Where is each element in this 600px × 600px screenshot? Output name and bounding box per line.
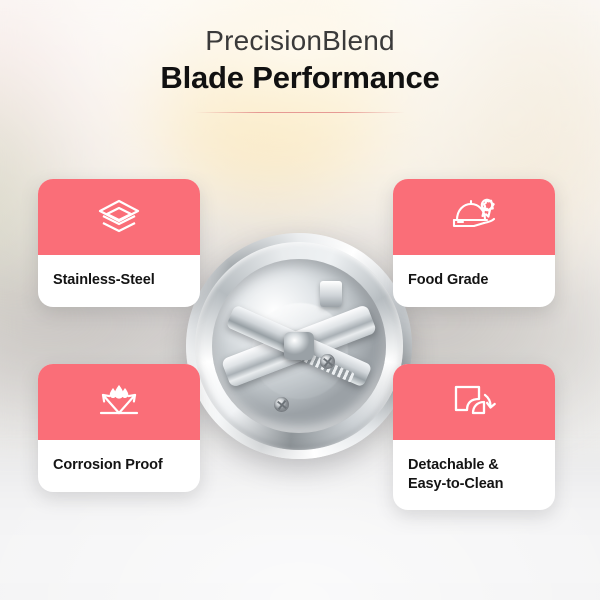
title-divider: [195, 112, 405, 113]
feature-card-corrosion-proof[interactable]: Corrosion Proof: [38, 364, 200, 492]
feature-title-line-2: Easy-to-Clean: [408, 475, 540, 494]
feature-title-line-1: Detachable &: [408, 456, 540, 475]
feature-icon-header: [38, 364, 200, 440]
feature-card-stainless-steel[interactable]: Stainless-Steel: [38, 179, 200, 307]
feature-card-body: Food Grade: [393, 255, 555, 307]
food-cloche-badge-icon: [450, 196, 498, 238]
feature-icon-header: [38, 179, 200, 255]
feature-card-detachable-easy-to-clean[interactable]: Detachable & Easy-to-Clean: [393, 364, 555, 510]
water-repellent-droplets-icon: [95, 382, 143, 422]
jar-tab-top: [320, 281, 342, 307]
layers-stack-icon: [96, 197, 142, 237]
feature-icon-header: [393, 179, 555, 255]
feature-card-body: Stainless-Steel: [38, 255, 200, 307]
feature-title: Stainless-Steel: [53, 271, 185, 290]
page-title: Blade Performance: [0, 59, 600, 96]
detachable-corner-arrow-icon: [451, 381, 497, 423]
jar-inner-base: [212, 259, 386, 433]
feature-icon-header: [393, 364, 555, 440]
blade-screw-lower: [274, 397, 289, 412]
header: PrecisionBlend Blade Performance: [0, 24, 600, 113]
blade-screw-upper: [320, 354, 335, 369]
feature-title: Food Grade: [408, 271, 540, 290]
feature-card-body: Detachable & Easy-to-Clean: [393, 440, 555, 510]
feature-title: Corrosion Proof: [53, 456, 185, 475]
feature-card-body: Corrosion Proof: [38, 440, 200, 492]
blade-hub-nut: [284, 332, 314, 360]
product-image-blade-assembly: [186, 233, 412, 459]
infographic-stage: PrecisionBlend Blade Performance: [0, 0, 600, 600]
feature-card-food-grade[interactable]: Food Grade: [393, 179, 555, 307]
brand-name: PrecisionBlend: [0, 24, 600, 57]
